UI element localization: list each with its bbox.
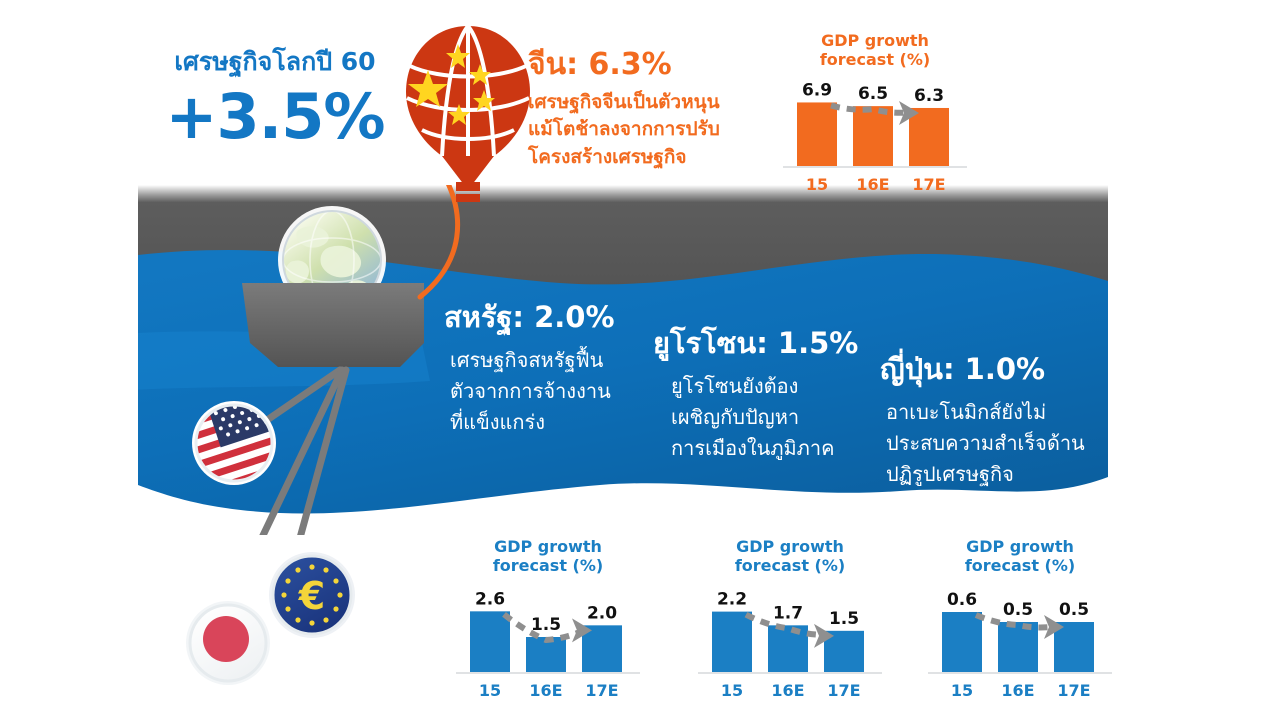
callout-japan: ญี่ปุ่น: 1.0% อาเบะโนมิกส์ยังไม่ ประสบคว… bbox=[880, 352, 1085, 490]
callout-eurozone-head: ยูโรโซน: 1.5% bbox=[653, 326, 858, 361]
category-label: 15 bbox=[479, 681, 501, 700]
callout-japan-head: ญี่ปุ่น: 1.0% bbox=[880, 352, 1085, 387]
callout-us: สหรัฐ: 2.0% เศรษฐกิจสหรัฐฟื้น ตัวจากการจ… bbox=[444, 300, 615, 438]
china-balloon-icon bbox=[398, 22, 538, 202]
chart-us-title-line1: GDP growth bbox=[448, 538, 648, 557]
balloon-basket-icon bbox=[456, 182, 480, 202]
bar bbox=[1054, 622, 1094, 672]
chart-china-title-line2: forecast (%) bbox=[775, 51, 975, 70]
bar-value-label: 0.5 bbox=[1003, 600, 1033, 620]
chart-us-title: GDP growth forecast (%) bbox=[448, 538, 648, 576]
callout-eurozone-line-3: การเมืองในภูมิภาค bbox=[671, 433, 858, 464]
chart-us-title-line2: forecast (%) bbox=[448, 557, 648, 576]
bar-value-label: 6.9 bbox=[802, 80, 832, 100]
category-label: 17E bbox=[585, 681, 618, 700]
bar-value-label: 6.5 bbox=[858, 84, 888, 104]
category-label: 16E bbox=[529, 681, 562, 700]
jp-flag-icon bbox=[186, 601, 270, 685]
bar-value-label: 1.7 bbox=[773, 603, 803, 623]
eu-flag-icon: € bbox=[269, 552, 355, 638]
chart-eurozone: GDP growth forecast (%) 2.21.71.51516E17… bbox=[690, 538, 890, 708]
category-label: 15 bbox=[951, 681, 973, 700]
chart-eurozone-title-line1: GDP growth bbox=[690, 538, 890, 557]
bar bbox=[470, 611, 510, 672]
category-label: 17E bbox=[1057, 681, 1090, 700]
callout-eurozone-line-1: ยูโรโซนยังต้อง bbox=[671, 371, 858, 402]
bar-value-label: 2.2 bbox=[717, 589, 747, 609]
category-label: 16E bbox=[1001, 681, 1034, 700]
callout-china-line-2: แม้โตช้าลงจากการปรับ bbox=[528, 116, 720, 144]
chart-us-plot: 2.61.52.01516E17E bbox=[448, 576, 648, 704]
callout-china-line-1: เศรษฐกิจจีนเป็นตัวหนุน bbox=[528, 89, 720, 117]
callout-us-line-3: ที่แข็งแกร่ง bbox=[450, 407, 615, 438]
chart-eurozone-title: GDP growth forecast (%) bbox=[690, 538, 890, 576]
category-label: 16E bbox=[771, 681, 804, 700]
bar bbox=[853, 106, 893, 166]
flag-badges-bottom: € bbox=[170, 545, 370, 690]
category-label: 17E bbox=[912, 175, 945, 194]
headline-title: เศรษฐกิจโลกปี 60 bbox=[150, 48, 400, 76]
bar-value-label: 0.5 bbox=[1059, 600, 1089, 620]
callout-eurozone-line-2: เผชิญกับปัญหา bbox=[671, 402, 858, 433]
chart-japan: GDP growth forecast (%) 0.60.50.51516E17… bbox=[920, 538, 1120, 708]
bar bbox=[768, 625, 808, 672]
chart-japan-title: GDP growth forecast (%) bbox=[920, 538, 1120, 576]
callout-china-line-3: โครงสร้างเศรษฐกิจ bbox=[528, 144, 720, 172]
callout-japan-line-3: ปฏิรูปเศรษฐกิจ bbox=[886, 459, 1085, 490]
chart-china-title-line1: GDP growth bbox=[775, 32, 975, 51]
bar bbox=[797, 102, 837, 166]
bar-value-label: 6.3 bbox=[914, 86, 944, 106]
chart-china-title: GDP growth forecast (%) bbox=[775, 32, 975, 70]
callout-china-head: จีน: 6.3% bbox=[528, 48, 720, 83]
chart-eurozone-plot: 2.21.71.51516E17E bbox=[690, 576, 890, 704]
chart-japan-plot: 0.60.50.51516E17E bbox=[920, 576, 1120, 704]
chart-china-plot: 6.96.56.31516E17E bbox=[775, 70, 975, 198]
category-label: 17E bbox=[827, 681, 860, 700]
chart-japan-title-line1: GDP growth bbox=[920, 538, 1120, 557]
bar-value-label: 2.6 bbox=[475, 589, 505, 609]
bar-value-label: 0.6 bbox=[947, 590, 977, 610]
callout-eurozone: ยูโรโซน: 1.5% ยูโรโซนยังต้อง เผชิญกับปัญ… bbox=[653, 326, 858, 464]
callout-japan-line-2: ประสบความสำเร็จด้าน bbox=[886, 428, 1085, 459]
callout-china: จีน: 6.3% เศรษฐกิจจีนเป็นตัวหนุน แม้โตช้… bbox=[528, 48, 720, 171]
bar bbox=[909, 108, 949, 166]
chart-eurozone-title-line2: forecast (%) bbox=[690, 557, 890, 576]
svg-text:€: € bbox=[298, 574, 325, 618]
bar bbox=[712, 611, 752, 671]
bar-value-label: 2.0 bbox=[587, 603, 617, 623]
bar bbox=[998, 622, 1038, 672]
bar-value-label: 1.5 bbox=[829, 609, 859, 629]
callout-us-line-1: เศรษฐกิจสหรัฐฟื้น bbox=[450, 345, 615, 376]
chart-china: GDP growth forecast (%) 6.96.56.31516E17… bbox=[775, 32, 975, 202]
callout-us-head: สหรัฐ: 2.0% bbox=[444, 300, 615, 335]
headline-value: +3.5% bbox=[150, 84, 400, 149]
bar bbox=[942, 612, 982, 672]
headline-block: เศรษฐกิจโลกปี 60 +3.5% bbox=[150, 48, 400, 149]
callout-japan-line-1: อาเบะโนมิกส์ยังไม่ bbox=[886, 397, 1085, 428]
ocean-banner bbox=[0, 185, 1280, 535]
infographic-canvas: € เศรษฐกิจโลกปี 60 +3.5% จีน: 6.3% เศรษฐ… bbox=[0, 0, 1280, 720]
chart-japan-title-line2: forecast (%) bbox=[920, 557, 1120, 576]
ship-hull-icon bbox=[242, 283, 424, 367]
callout-us-line-2: ตัวจากการจ้างงาน bbox=[450, 376, 615, 407]
chart-us: GDP growth forecast (%) 2.61.52.01516E17… bbox=[448, 538, 648, 708]
category-label: 16E bbox=[856, 175, 889, 194]
category-label: 15 bbox=[806, 175, 828, 194]
category-label: 15 bbox=[721, 681, 743, 700]
